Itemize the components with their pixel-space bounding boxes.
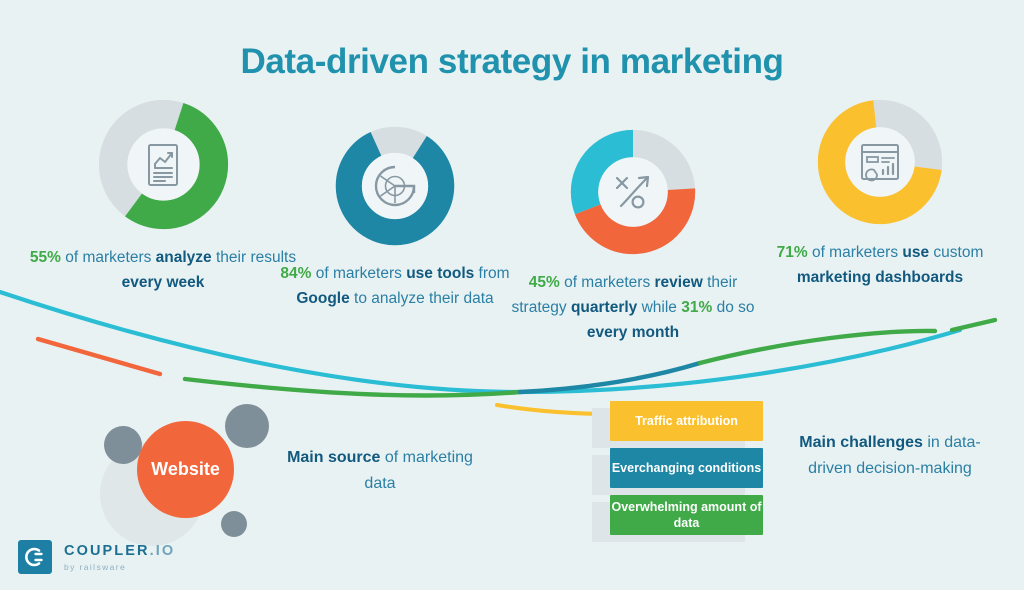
challenge-bar-everchanging-conditions[interactable]: Everchanging conditions (610, 448, 763, 488)
website-bubble-label: Website (151, 459, 220, 480)
stat-caption-review-strategy: 45% of marketers review their strategy q… (505, 270, 761, 345)
challenge-bar-label: Overwhelming amount of data (610, 499, 763, 531)
strategy-playbook-icon (609, 170, 657, 214)
coupler-logo-name: COUPLER.IO (64, 543, 175, 559)
page-title: Data-driven strategy in marketing (0, 42, 1024, 82)
coupler-logo-tagline: by railsware (64, 562, 175, 572)
source-caption: Main source of marketing data (285, 445, 475, 497)
infographic-canvas: Data-driven strategy in marketing (0, 0, 1024, 590)
stat-block-custom-dashboards: 71% of marketers use custom marketing da… (752, 98, 1008, 290)
accent-circle-bottom-right (221, 511, 247, 537)
coupler-logo-text: COUPLER.IO by railsware (64, 542, 175, 572)
accent-circle-small-left (104, 426, 142, 464)
accent-circle-top-right (225, 404, 269, 448)
challenge-bar-traffic-attribution[interactable]: Traffic attribution (610, 401, 763, 441)
challenges-caption: Main challenges in data-driven decision-… (790, 430, 990, 482)
google-g-icon (371, 162, 419, 210)
coupler-logo[interactable]: COUPLER.IO by railsware (18, 540, 175, 574)
website-bubble[interactable]: Website (137, 421, 234, 518)
stat-caption-custom-dashboards: 71% of marketers use custom marketing da… (752, 240, 1008, 290)
stat-caption-analyze-results: 55% of marketers analyze their results e… (28, 245, 298, 295)
stat-block-review-strategy: 45% of marketers review their strategy q… (505, 128, 761, 345)
challenge-bar-label: Everchanging conditions (612, 460, 761, 476)
donut-chart-custom-dashboards (816, 98, 944, 226)
report-document-icon (143, 142, 183, 188)
challenge-bar-label: Traffic attribution (635, 413, 738, 429)
dashboard-window-icon (856, 140, 904, 184)
source-bubble-cluster: Website (108, 404, 308, 549)
challenges-bar-group: Traffic attribution Everchanging conditi… (592, 398, 772, 538)
donut-chart-google-tools (334, 125, 456, 247)
challenge-bar-overwhelming-data[interactable]: Overwhelming amount of data (610, 495, 763, 535)
coupler-logo-suffix: .IO (150, 543, 176, 559)
coupler-logo-word: COUPLER (64, 543, 150, 559)
stat-block-analyze-results: 55% of marketers analyze their results e… (28, 98, 298, 295)
donut-chart-analyze-results (97, 98, 230, 231)
stat-caption-google-tools: 84% of marketers use tools from Google t… (265, 261, 525, 311)
stat-block-google-tools: 84% of marketers use tools from Google t… (265, 125, 525, 311)
coupler-logo-mark-icon (18, 540, 52, 574)
donut-chart-review-strategy (569, 128, 697, 256)
